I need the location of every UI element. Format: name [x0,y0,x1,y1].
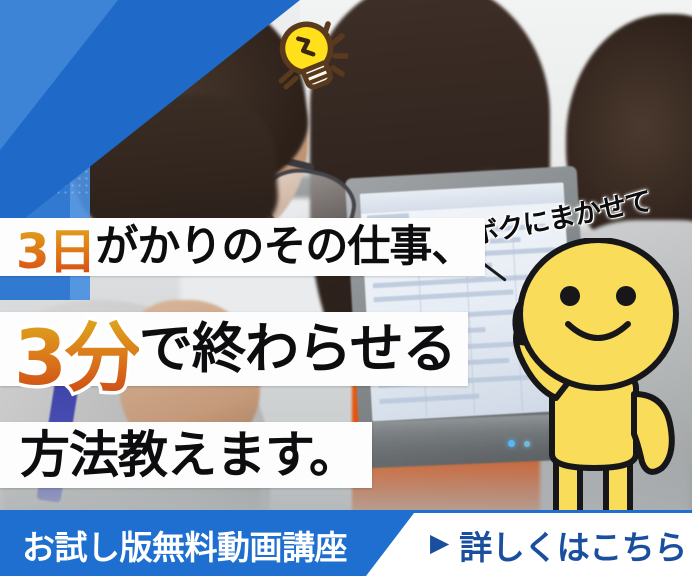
cta-link-panel[interactable]: ▶ 詳しくはこちら [414,513,692,576]
headline-2-text: で終わらせる [139,322,456,376]
headline-1-text: がかりのその仕事、 [95,226,473,269]
cta-link-label: 詳しくはこちら [459,521,687,569]
headline-3-text: 方法教えます。 [20,430,358,480]
corner-triangle-accent [0,0,118,150]
spreadsheet-row [374,289,514,302]
cta-offer-panel[interactable]: お試し版無料動画講座 [0,513,414,576]
cta-bar: お試し版無料動画講座 ▶ 詳しくはこちら [0,513,692,576]
cta-offer-label: お試し版無料動画講座 [0,521,347,569]
headline-1-highlight: 3日 [16,212,95,282]
headline-2-highlight: 3分 [14,296,139,406]
play-arrow-icon: ▶ [430,531,449,556]
headline-line-1: 3日 がかりのその仕事、 [0,218,485,276]
spreadsheet-row [379,394,479,405]
promo-banner: ボクにまかせて 3日 がかりのその仕事、 [0,0,692,576]
lightbulb-icon [258,8,354,90]
headline-line-3: 方法教えます。 [0,422,372,488]
yellow-mascot-character [498,238,692,528]
